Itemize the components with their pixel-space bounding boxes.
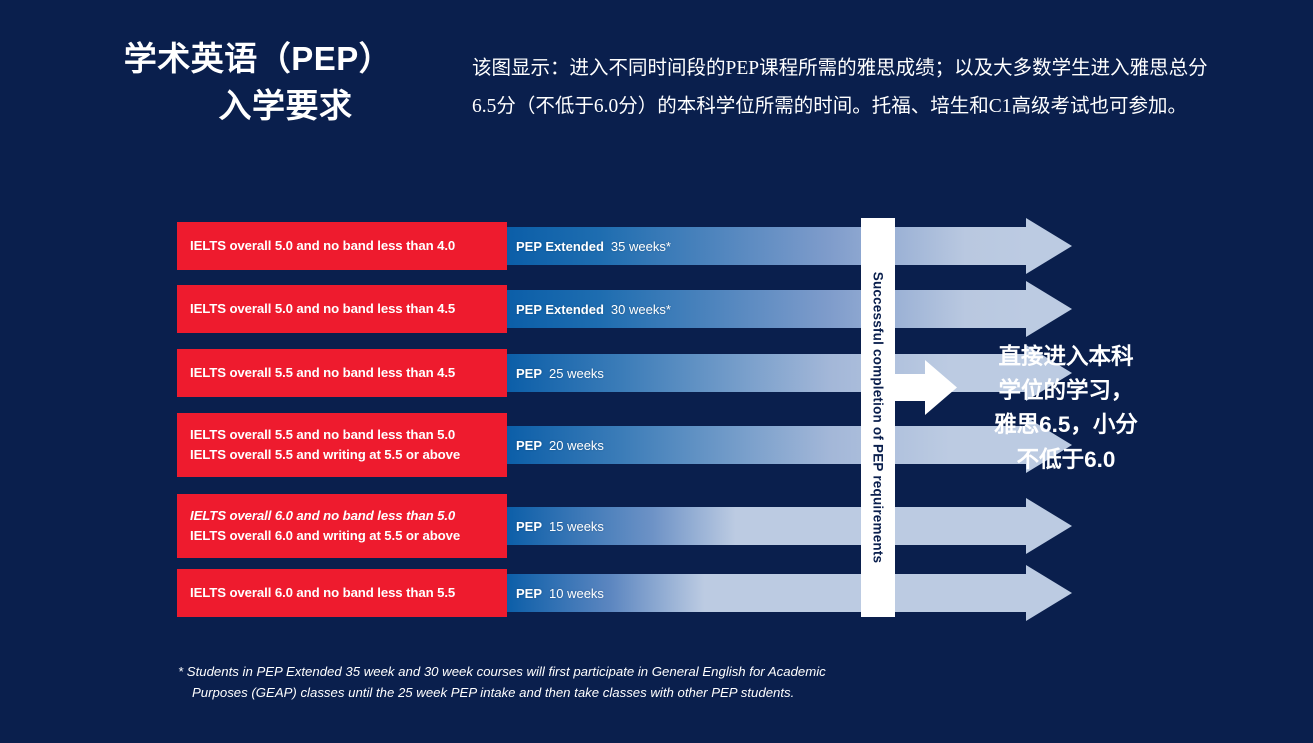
- ielts-requirement-box: IELTS overall 6.0 and no band less than …: [177, 569, 507, 617]
- requirement-line: IELTS overall 5.5 and writing at 5.5 or …: [190, 445, 494, 465]
- pathway-row: IELTS overall 6.0 and no band less than …: [177, 569, 895, 617]
- course-arrow: PEP Extended 35 weeks*: [506, 227, 1072, 265]
- course-name: PEP: [516, 519, 542, 534]
- course-arrow: PEP Extended 30 weeks*: [506, 290, 1072, 328]
- course-label: PEP 20 weeks: [516, 426, 604, 464]
- outcome-arrow-icon: [895, 360, 957, 415]
- course-label: PEP 10 weeks: [516, 574, 604, 612]
- requirement-line: IELTS overall 6.0 and no band less than …: [190, 583, 494, 603]
- completion-gate-label-wrap: Successful completion of PEP requirement…: [861, 218, 895, 617]
- outcome-line: 不低于6.0: [960, 443, 1172, 477]
- ielts-requirement-box: IELTS overall 5.5 and no band less than …: [177, 413, 507, 477]
- outcome-arrow-head: [925, 360, 957, 415]
- course-name: PEP: [516, 586, 542, 601]
- course-name: PEP Extended: [516, 302, 604, 317]
- ielts-requirement-box: IELTS overall 5.5 and no band less than …: [177, 349, 507, 397]
- course-arrow: PEP 15 weeks: [506, 507, 1072, 545]
- outcome-line: 雅思6.5，小分: [960, 408, 1172, 442]
- footnote-line: Purposes (GEAP) classes until the 25 wee…: [178, 682, 938, 703]
- course-name: PEP: [516, 438, 542, 453]
- course-name: PEP: [516, 366, 542, 381]
- requirement-line: IELTS overall 5.5 and no band less than …: [190, 363, 494, 383]
- pathway-row: IELTS overall 5.5 and no band less than …: [177, 349, 895, 397]
- arrow-head-icon: [1026, 281, 1072, 337]
- course-arrow: PEP 10 weeks: [506, 574, 1072, 612]
- course-duration: 35 weeks*: [611, 239, 671, 254]
- requirement-line: IELTS overall 6.0 and writing at 5.5 or …: [190, 526, 494, 546]
- ielts-requirement-box: IELTS overall 5.0 and no band less than …: [177, 285, 507, 333]
- course-duration: 25 weeks: [549, 366, 604, 381]
- course-duration: 10 weeks: [549, 586, 604, 601]
- course-label: PEP Extended 35 weeks*: [516, 227, 671, 265]
- arrow-head-icon: [1026, 498, 1072, 554]
- outcome-line: 直接进入本科: [960, 340, 1172, 374]
- requirement-line: IELTS overall 6.0 and no band less than …: [190, 506, 494, 526]
- ielts-requirement-box: IELTS overall 5.0 and no band less than …: [177, 222, 507, 270]
- requirement-line: IELTS overall 5.0 and no band less than …: [190, 236, 494, 256]
- pep-pathway-diagram: IELTS overall 5.0 and no band less than …: [0, 0, 1313, 743]
- ielts-requirement-box: IELTS overall 6.0 and no band less than …: [177, 494, 507, 558]
- requirement-line: IELTS overall 5.5 and no band less than …: [190, 425, 494, 445]
- course-label: PEP Extended 30 weeks*: [516, 290, 671, 328]
- course-label: PEP 25 weeks: [516, 354, 604, 392]
- arrow-head-icon: [1026, 565, 1072, 621]
- course-label: PEP 15 weeks: [516, 507, 604, 545]
- footnote-line: * Students in PEP Extended 35 week and 3…: [178, 661, 938, 682]
- pathway-row: IELTS overall 6.0 and no band less than …: [177, 494, 895, 558]
- course-duration: 30 weeks*: [611, 302, 671, 317]
- completion-gate-label: Successful completion of PEP requirement…: [871, 272, 886, 564]
- arrow-head-icon: [1026, 218, 1072, 274]
- course-duration: 15 weeks: [549, 519, 604, 534]
- course-duration: 20 weeks: [549, 438, 604, 453]
- pathway-row: IELTS overall 5.0 and no band less than …: [177, 285, 895, 333]
- outcome-text: 直接进入本科 学位的学习， 雅思6.5，小分 不低于6.0: [960, 340, 1172, 477]
- footnote: * Students in PEP Extended 35 week and 3…: [178, 661, 938, 704]
- outcome-line: 学位的学习，: [960, 374, 1172, 408]
- course-name: PEP Extended: [516, 239, 604, 254]
- pathway-row: IELTS overall 5.0 and no band less than …: [177, 222, 895, 270]
- requirement-line: IELTS overall 5.0 and no band less than …: [190, 299, 494, 319]
- slide-canvas: 学术英语（PEP） 入学要求 该图显示：进入不同时间段的PEP课程所需的雅思成绩…: [0, 0, 1313, 743]
- pathway-row: IELTS overall 5.5 and no band less than …: [177, 413, 895, 477]
